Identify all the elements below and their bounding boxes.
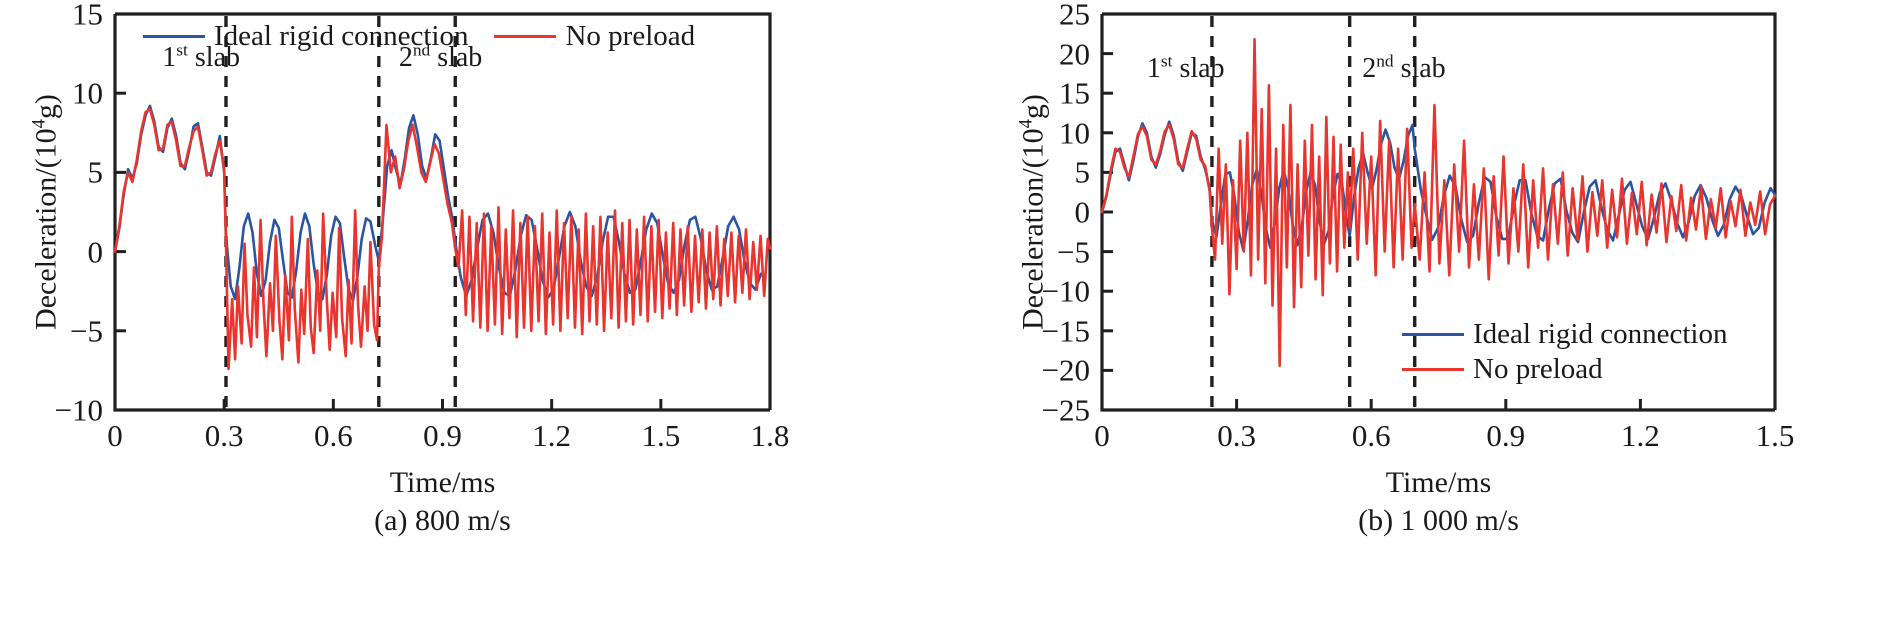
legend-entry: Ideal rigid connection bbox=[1402, 318, 1727, 351]
legend-swatch-no-preload bbox=[1402, 368, 1464, 371]
legend-swatch-no-preload bbox=[494, 35, 556, 38]
legend-label: No preload bbox=[565, 20, 695, 53]
slab-index: 1 bbox=[1147, 53, 1161, 84]
panel-a: Deceleration/(104g) −10−5051015 00.30.60… bbox=[0, 0, 945, 618]
legend-label: Ideal rigid connection bbox=[214, 20, 468, 53]
slab-index: 2 bbox=[1362, 53, 1376, 84]
legend-swatch-ideal-rigid-connection bbox=[143, 35, 205, 38]
legend-entry: No preload bbox=[494, 20, 695, 53]
x-axis-title-a: Time/ms bbox=[115, 466, 770, 500]
x-axis-title-b: Time/ms bbox=[1102, 466, 1775, 500]
figure-container: Deceleration/(104g) −10−5051015 00.30.60… bbox=[0, 0, 1890, 618]
legend-entry: No preload bbox=[1402, 353, 1603, 386]
panel-b: Deceleration/(104g) −25−20−15−10−5051015… bbox=[945, 0, 1890, 618]
subfigure-caption-b: (b) 1 000 m/s bbox=[1102, 504, 1775, 538]
legend-label: No preload bbox=[1473, 353, 1603, 386]
slab-ordinal-suffix: nd bbox=[1376, 52, 1393, 71]
annotation-second-slab-b: 2nd slab bbox=[1362, 55, 1445, 83]
legend-swatch-ideal-rigid-connection bbox=[1402, 333, 1464, 336]
legend-label: Ideal rigid connection bbox=[1473, 318, 1727, 351]
slab-word: slab bbox=[1172, 53, 1224, 84]
subfigure-caption-a: (a) 800 m/s bbox=[115, 504, 770, 538]
legend-a: Ideal rigid connectionNo preload bbox=[143, 20, 695, 53]
annotation-first-slab-b: 1st slab bbox=[1147, 55, 1225, 83]
slab-word: slab bbox=[1394, 53, 1446, 84]
slab-ordinal-suffix: st bbox=[1161, 52, 1173, 71]
legend-entry: Ideal rigid connection bbox=[143, 20, 468, 53]
legend-b: Ideal rigid connectionNo preload bbox=[1402, 318, 1727, 386]
